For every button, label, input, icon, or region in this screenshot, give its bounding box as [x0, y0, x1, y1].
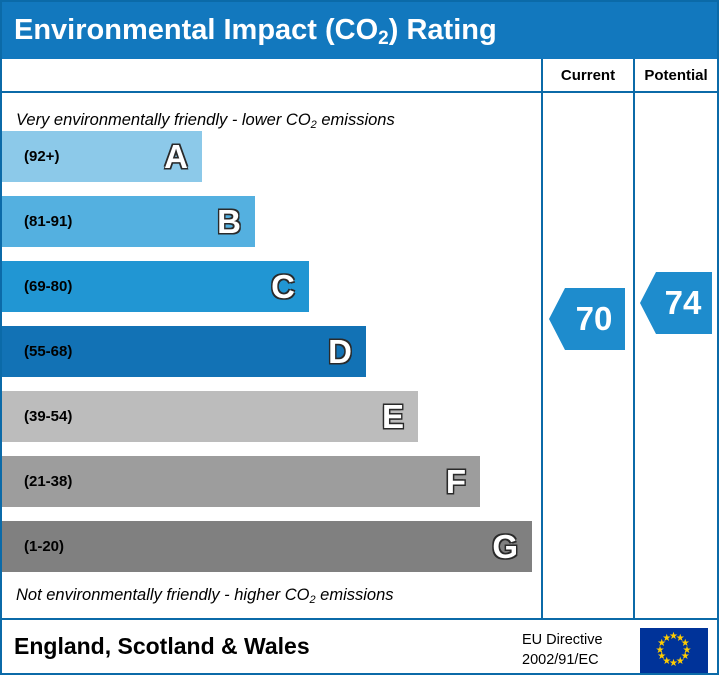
- eu-flag-icon: ★★★★★★★★★★★★: [640, 628, 708, 673]
- band-g-range: (1-20): [2, 538, 64, 555]
- column-header-potential: Potential: [633, 59, 717, 91]
- band-c: (69-80) C: [2, 261, 309, 312]
- energy-rating-chart: Environmental Impact (CO2) Rating Curren…: [0, 0, 719, 675]
- band-d: (55-68) D: [2, 326, 366, 377]
- band-a-range: (92+): [2, 148, 59, 165]
- page-title-subscript: 2: [378, 28, 389, 49]
- caption-bottom-tail: emissions: [316, 586, 394, 604]
- current-rating-value: 70: [576, 300, 613, 338]
- band-a-letter: A: [164, 140, 188, 173]
- page-title-tail: ) Rating: [389, 14, 497, 46]
- column-header-current: Current: [541, 59, 633, 91]
- caption-bottom-subscript: 2: [309, 594, 315, 606]
- band-e: (39-54) E: [2, 391, 418, 442]
- band-b-letter: B: [217, 205, 241, 238]
- chart-footer: England, Scotland & Wales EU Directive 2…: [2, 618, 717, 673]
- band-d-range: (55-68): [2, 343, 72, 360]
- page-title-main: Environmental Impact (CO: [14, 14, 378, 46]
- column-divider-right: [633, 93, 635, 618]
- eu-directive-line1: EU Directive: [522, 631, 603, 651]
- band-a: (92+) A: [2, 131, 202, 182]
- band-b-range: (81-91): [2, 213, 72, 230]
- current-rating-marker: 70: [549, 288, 625, 350]
- column-divider-left: [541, 93, 543, 618]
- potential-rating-value: 74: [665, 284, 702, 322]
- caption-bottom: Not environmentally friendly - higher CO…: [16, 586, 394, 605]
- band-f-letter: F: [446, 465, 466, 498]
- band-b: (81-91) B: [2, 196, 255, 247]
- band-e-letter: E: [382, 400, 404, 433]
- caption-bottom-text: Not environmentally friendly - higher CO: [16, 586, 309, 604]
- page-title: Environmental Impact (CO2) Rating: [2, 14, 497, 47]
- band-c-range: (69-80): [2, 278, 72, 295]
- caption-top-subscript: 2: [311, 119, 317, 131]
- chart-header: Environmental Impact (CO2) Rating: [2, 2, 717, 59]
- eu-directive-line2: 2002/91/EC: [522, 651, 603, 671]
- column-header-row: Current Potential: [2, 59, 717, 93]
- band-f: (21-38) F: [2, 456, 480, 507]
- band-e-range: (39-54): [2, 408, 72, 425]
- rating-bands: Very environmentally friendly - lower CO…: [2, 93, 541, 618]
- caption-top-tail: emissions: [317, 111, 395, 129]
- eu-directive-label: EU Directive 2002/91/EC: [522, 631, 603, 670]
- band-c-letter: C: [271, 270, 295, 303]
- caption-top: Very environmentally friendly - lower CO…: [16, 111, 395, 130]
- eu-flag-star: ★: [662, 634, 671, 644]
- band-g-letter: G: [492, 530, 518, 563]
- potential-rating-marker: 74: [640, 272, 712, 334]
- region-label: England, Scotland & Wales: [14, 633, 310, 660]
- caption-top-text: Very environmentally friendly - lower CO: [16, 111, 311, 129]
- band-f-range: (21-38): [2, 473, 72, 490]
- band-g: (1-20) G: [2, 521, 532, 572]
- band-d-letter: D: [328, 335, 352, 368]
